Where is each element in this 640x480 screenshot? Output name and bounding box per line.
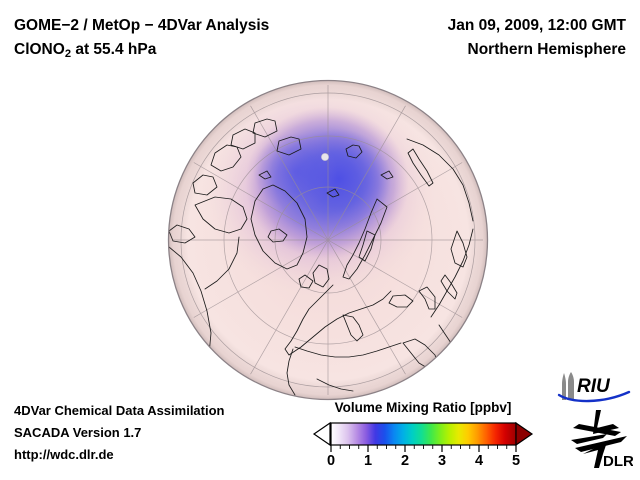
- colorbar-extend-left: [314, 423, 330, 445]
- colorbar-tick-label: 3: [438, 453, 446, 467]
- page-title: GOME−2 / MetOp − 4DVar Analysis: [14, 14, 269, 38]
- riu-towers-icon: [562, 372, 574, 400]
- footer-credits: 4DVar Chemical Data Assimilation SACADA …: [14, 400, 225, 466]
- dlr-wordmark: DLR: [603, 453, 633, 470]
- colorbar-gradient: [331, 423, 516, 445]
- page-subtitle: ClONO2 at 55.4 hPa: [14, 38, 269, 63]
- colorbar-extend-right: [516, 423, 532, 445]
- species-subscript: 2: [65, 48, 71, 60]
- colorbar-minor-ticks: [340, 445, 507, 449]
- colorbar-tick-label: 0: [327, 453, 335, 467]
- colorbar-tick-labels: 0 1 2 3 4 5: [327, 453, 520, 467]
- footer-line-3-url[interactable]: http://wdc.dlr.de: [14, 444, 225, 466]
- colorbar-legend: Volume Mixing Ratio [ppbv]: [312, 400, 534, 467]
- footer-line-1: 4DVar Chemical Data Assimilation: [14, 400, 225, 422]
- globe-field-layer: [169, 81, 488, 400]
- header-meta-block: Jan 09, 2009, 12:00 GMT Northern Hemisph…: [448, 14, 626, 62]
- north-pole-marker: [321, 153, 328, 160]
- region-label: Northern Hemisphere: [448, 38, 626, 62]
- colorbar-tick-label: 1: [364, 453, 372, 467]
- colorbar-tick-label: 2: [401, 453, 409, 467]
- footer-line-2: SACADA Version 1.7: [14, 422, 225, 444]
- dlr-logo: DLR: [567, 408, 633, 475]
- colorbar-tick-label: 4: [475, 453, 483, 467]
- colorbar-title: Volume Mixing Ratio [ppbv]: [312, 400, 534, 415]
- riu-logo: RIU: [556, 372, 632, 409]
- timestamp-label: Jan 09, 2009, 12:00 GMT: [448, 14, 626, 38]
- pressure-level-label: at 55.4 hPa: [71, 41, 156, 58]
- header-title-block: GOME−2 / MetOp − 4DVar Analysis ClONO2 a…: [14, 14, 269, 63]
- species-label: ClONO: [14, 41, 65, 58]
- riu-wordmark: RIU: [577, 376, 611, 397]
- limb-shading: [169, 81, 488, 400]
- colorbar-tick-label: 5: [512, 453, 520, 467]
- globe-map: [167, 79, 489, 401]
